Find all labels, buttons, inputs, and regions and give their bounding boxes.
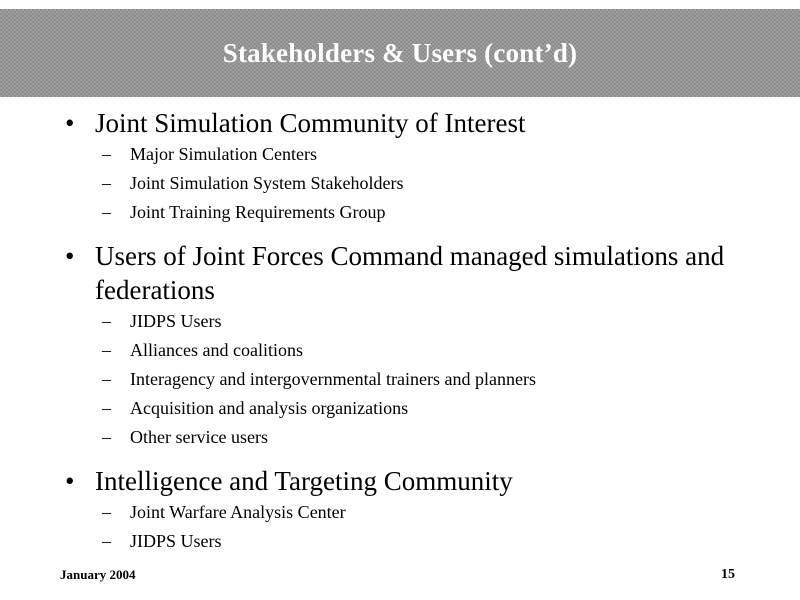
main-bullet: • Joint Simulation Community of Interest [0, 106, 800, 140]
dash-icon: – [102, 498, 111, 527]
dash-icon: – [102, 307, 111, 336]
sub-bullet: – Acquisition and analysis organizations [0, 394, 800, 423]
sub-bullet-label: Joint Simulation System Stakeholders [130, 173, 404, 193]
sub-bullet-label: Joint Training Requirements Group [130, 202, 386, 222]
main-bullet-label: Intelligence and Targeting Community [95, 466, 513, 496]
main-bullet-label: Joint Simulation Community of Interest [95, 108, 525, 138]
dash-icon: – [102, 527, 111, 556]
sub-bullet: – Major Simulation Centers [0, 140, 800, 169]
dash-icon: – [102, 198, 111, 227]
sub-bullet-label: Other service users [130, 427, 268, 447]
sub-bullet-label: JIDPS Users [130, 531, 222, 551]
sub-bullet-label: JIDPS Users [130, 311, 222, 331]
sub-bullet: – Joint Simulation System Stakeholders [0, 169, 800, 198]
sub-bullet: – Alliances and coalitions [0, 336, 800, 365]
dash-icon: – [102, 140, 111, 169]
bullet-group: • Intelligence and Targeting Community –… [0, 464, 800, 556]
main-bullet: • Intelligence and Targeting Community [0, 464, 800, 498]
main-bullet-label: Users of Joint Forces Command managed si… [95, 241, 724, 305]
bullet-dot-icon: • [65, 106, 74, 140]
bullet-group: • Joint Simulation Community of Interest… [0, 106, 800, 227]
bullet-dot-icon: • [65, 464, 74, 498]
sub-bullet-label: Alliances and coalitions [130, 340, 303, 360]
sub-bullet: – Joint Training Requirements Group [0, 198, 800, 227]
slide-title: Stakeholders & Users (cont’d) [223, 40, 578, 67]
sub-bullet: – JIDPS Users [0, 527, 800, 556]
dash-icon: – [102, 423, 111, 452]
sub-bullet: – JIDPS Users [0, 307, 800, 336]
sub-bullet-label: Major Simulation Centers [130, 144, 317, 164]
sub-bullet: – Other service users [0, 423, 800, 452]
main-bullet: • Users of Joint Forces Command managed … [0, 239, 800, 307]
dash-icon: – [102, 169, 111, 198]
slide-title-banner: Stakeholders & Users (cont’d) [0, 9, 800, 97]
footer-date: January 2004 [60, 567, 135, 583]
slide-body: • Joint Simulation Community of Interest… [0, 100, 800, 556]
footer-page-number: 15 [721, 567, 735, 583]
sub-bullet: – Interagency and intergovernmental trai… [0, 365, 800, 394]
bullet-dot-icon: • [65, 239, 74, 273]
sub-bullet: – Joint Warfare Analysis Center [0, 498, 800, 527]
dash-icon: – [102, 336, 111, 365]
sub-bullet-label: Interagency and intergovernmental traine… [130, 369, 536, 389]
dash-icon: – [102, 394, 111, 423]
dash-icon: – [102, 365, 111, 394]
bullet-group: • Users of Joint Forces Command managed … [0, 239, 800, 452]
sub-bullet-label: Acquisition and analysis organizations [130, 398, 408, 418]
presentation-slide: Stakeholders & Users (cont’d) • Joint Si… [0, 0, 800, 600]
slide-footer: January 2004 15 [0, 558, 800, 600]
sub-bullet-label: Joint Warfare Analysis Center [130, 502, 346, 522]
